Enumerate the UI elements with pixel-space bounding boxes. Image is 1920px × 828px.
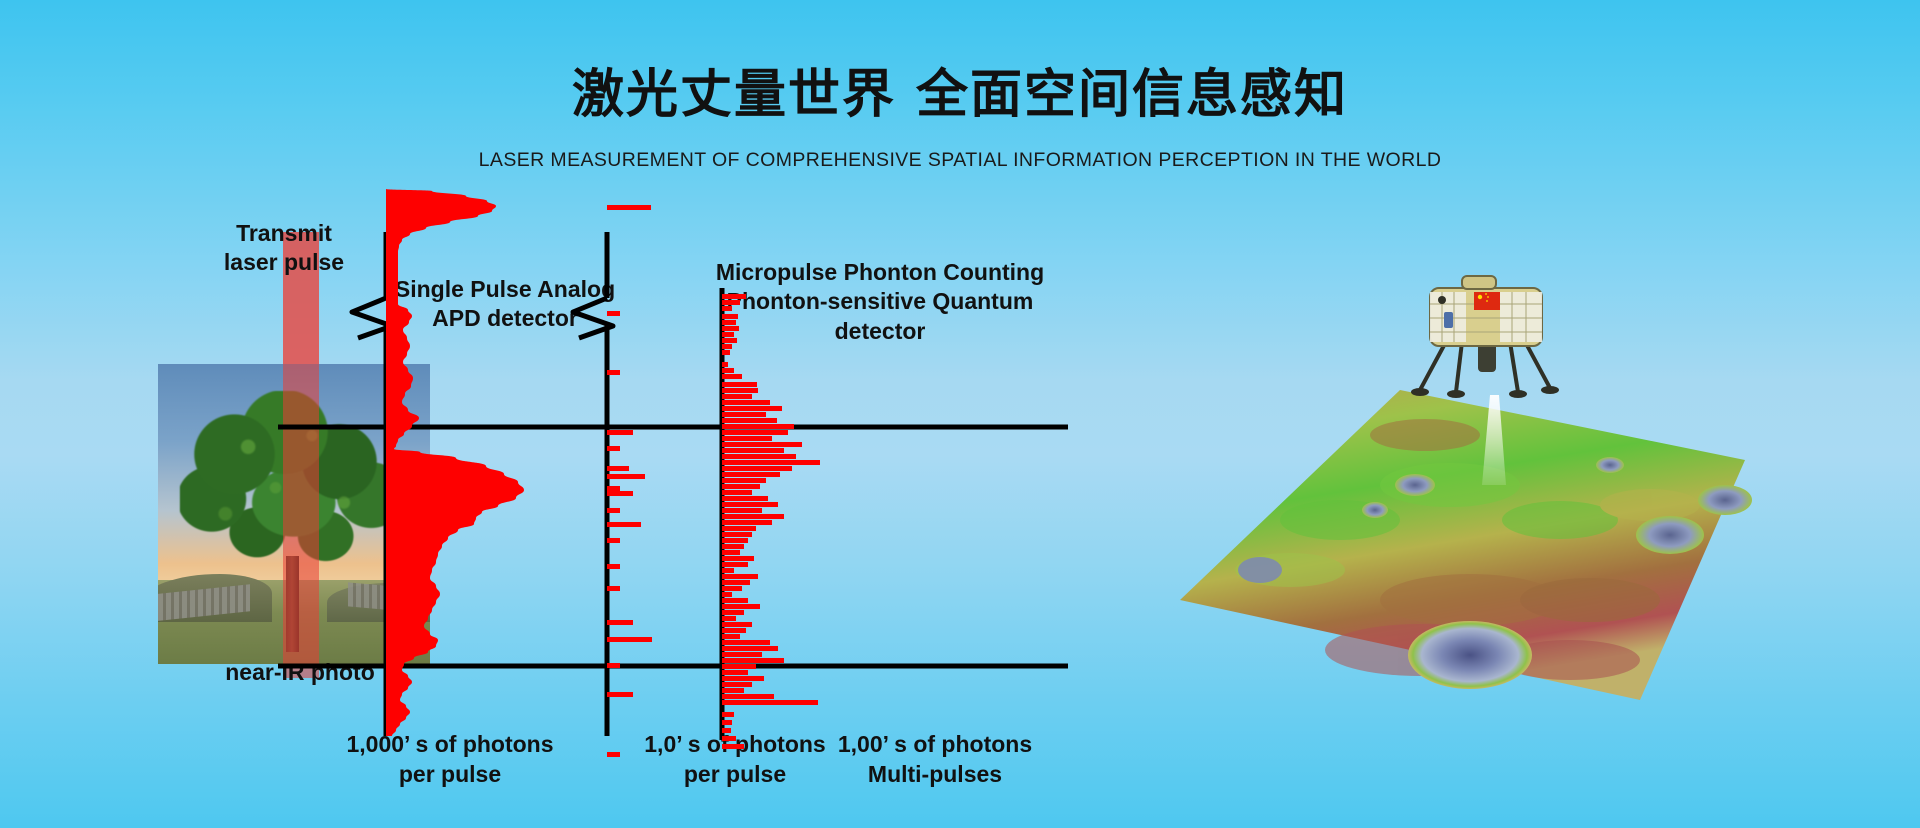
histogram-bar — [722, 664, 756, 669]
histogram-bar — [722, 694, 774, 699]
histogram-bar — [722, 454, 796, 459]
histogram-bar — [722, 728, 731, 733]
histogram-bar — [607, 637, 652, 642]
histogram-bar — [722, 592, 732, 597]
lander-instrument — [1444, 312, 1453, 328]
histogram-bar — [722, 526, 756, 531]
histogram-bar — [722, 610, 744, 615]
histogram-bar — [722, 300, 740, 305]
histogram-bar — [607, 205, 651, 210]
histogram-bar — [722, 586, 742, 591]
histogram-bar — [722, 338, 737, 343]
histogram-bar — [722, 562, 748, 567]
histogram-bar — [722, 374, 742, 379]
histogram-bar — [722, 688, 744, 693]
histogram-bar — [722, 412, 766, 417]
histogram-bar — [722, 744, 744, 749]
histogram-bar — [607, 586, 620, 591]
histogram-bar — [722, 520, 772, 525]
histogram-bar — [722, 532, 752, 537]
histogram-bar — [722, 670, 748, 675]
histogram-bar — [722, 658, 784, 663]
histogram-bar — [722, 550, 740, 555]
histogram-bar — [607, 538, 620, 543]
histogram-bar — [722, 382, 757, 387]
histogram-low-rate — [607, 205, 652, 757]
histogram-bar — [722, 496, 768, 501]
histogram-bar — [722, 320, 736, 325]
histogram-bar — [722, 598, 748, 603]
histogram-bar — [607, 663, 620, 668]
histogram-bar — [722, 460, 820, 465]
histogram-bar — [722, 490, 752, 495]
histogram-bar — [722, 314, 738, 319]
histogram-bar — [607, 564, 620, 569]
crater-large — [1408, 621, 1532, 689]
histogram-bar — [722, 394, 752, 399]
histogram-bar — [722, 556, 754, 561]
histogram-bar — [722, 484, 760, 489]
histogram-bar — [607, 508, 620, 513]
histogram-bar — [722, 634, 740, 639]
histogram-bar — [722, 326, 739, 331]
histogram-bar — [722, 344, 732, 349]
histogram-bar — [607, 620, 633, 625]
histogram-bar — [722, 646, 778, 651]
histogram-bar — [722, 362, 728, 367]
histogram-bar — [722, 514, 784, 519]
histogram-bar — [722, 502, 778, 507]
histogram-micropulse — [722, 294, 820, 749]
histogram-bar — [722, 676, 764, 681]
histogram-bar — [722, 442, 802, 447]
histogram-bar — [607, 311, 620, 316]
histogram-bar — [607, 474, 645, 479]
histogram-bar — [722, 604, 760, 609]
histogram-bar — [607, 522, 641, 527]
histogram-bar — [722, 472, 780, 477]
histogram-bar — [607, 486, 620, 491]
histogram-bar — [722, 720, 732, 725]
terrain-scene — [1170, 270, 1770, 720]
histogram-bar — [722, 406, 782, 411]
histogram-bar — [722, 616, 736, 621]
histogram-bar — [722, 538, 748, 543]
histogram-bar — [722, 294, 746, 299]
histogram-bar — [722, 682, 752, 687]
histogram-bar — [722, 622, 752, 627]
lander-antenna-dish — [1438, 296, 1446, 304]
histogram-bar — [607, 370, 620, 375]
crater-mid — [1395, 474, 1435, 496]
histogram-bar — [722, 388, 758, 393]
histogram-bar — [722, 466, 792, 471]
crater-left-edge — [1238, 557, 1282, 583]
waveform-single-pulse — [386, 189, 524, 736]
histogram-bar — [722, 400, 770, 405]
histogram-bar — [607, 491, 633, 496]
histogram-bar — [722, 424, 794, 429]
histogram-bar — [722, 332, 734, 337]
lunar-lander — [1400, 270, 1600, 440]
histogram-bar — [722, 568, 734, 573]
histogram-bar — [722, 478, 766, 483]
histogram-bar — [607, 752, 620, 757]
histogram-bar — [722, 652, 762, 657]
poster-canvas: 激光丈量世界 全面空间信息感知 LASER MEASUREMENT OF COM… — [0, 0, 1920, 828]
crater-right-2 — [1698, 485, 1752, 515]
histogram-bar — [722, 436, 772, 441]
histogram-bar — [722, 580, 750, 585]
histogram-bar — [607, 446, 620, 451]
histogram-bar — [722, 574, 758, 579]
histogram-bar — [722, 544, 744, 549]
crater-small-2 — [1596, 457, 1624, 473]
histogram-bar — [722, 736, 736, 741]
lander-top-mast — [1462, 276, 1496, 289]
histogram-bar — [722, 712, 734, 717]
crater-small-1 — [1362, 502, 1388, 518]
histogram-bar — [722, 508, 762, 513]
crater-right-1 — [1636, 516, 1704, 554]
histogram-bar — [607, 430, 633, 435]
histogram-bar — [722, 448, 784, 453]
histogram-bar — [722, 700, 818, 705]
lander-panel-right — [1500, 292, 1542, 342]
histogram-bar — [722, 306, 732, 311]
lander-footpads — [1411, 386, 1559, 398]
histogram-bar — [722, 430, 788, 435]
histogram-bar — [722, 628, 746, 633]
histogram-bar — [722, 350, 730, 355]
histogram-bar — [722, 418, 777, 423]
histogram-bar — [722, 640, 770, 645]
histogram-bar — [607, 692, 633, 697]
histogram-bar — [607, 466, 629, 471]
histogram-bar — [722, 368, 734, 373]
